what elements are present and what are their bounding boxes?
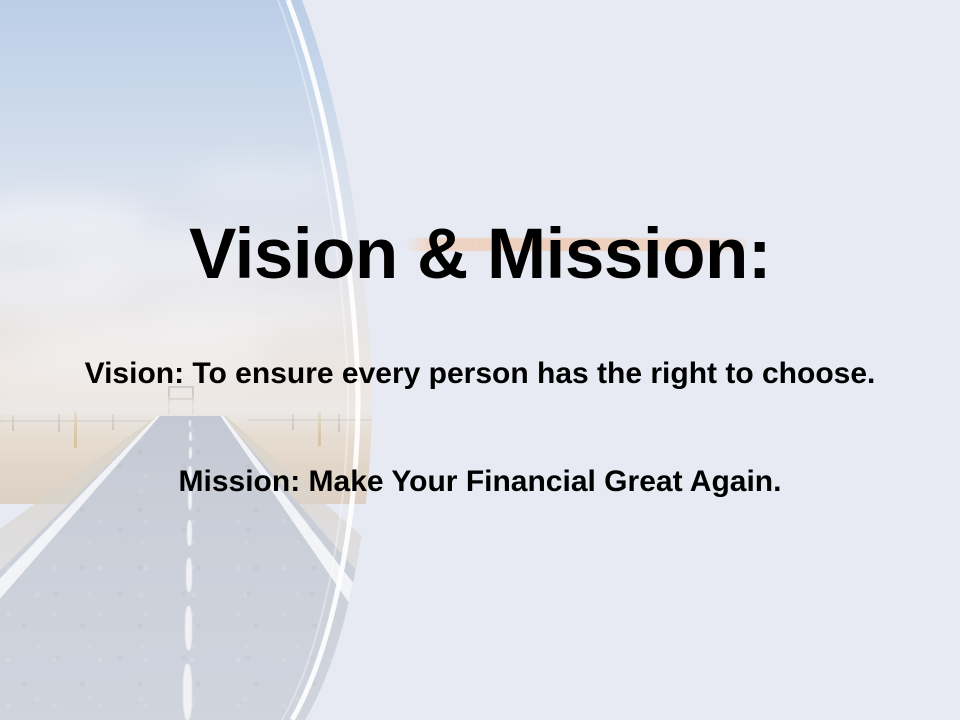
- mission-statement: Mission: Make Your Financial Great Again…: [0, 464, 960, 500]
- page-title: Vision & Mission:: [0, 218, 960, 293]
- title-block: Vision & Mission:: [0, 218, 960, 293]
- lane-dash: [189, 420, 191, 427]
- lane-dash: [185, 606, 192, 650]
- slide-canvas: Vision & Mission: Vision: To ensure ever…: [0, 0, 960, 720]
- lane-dash: [187, 520, 192, 546]
- lane-dash: [189, 432, 192, 441]
- vision-statement: Vision: To ensure every person has the r…: [0, 356, 960, 392]
- lane-dash: [186, 558, 192, 592]
- lane-dash: [183, 664, 192, 720]
- cloud-wisp: [190, 160, 340, 200]
- lane-dash: [189, 447, 192, 459]
